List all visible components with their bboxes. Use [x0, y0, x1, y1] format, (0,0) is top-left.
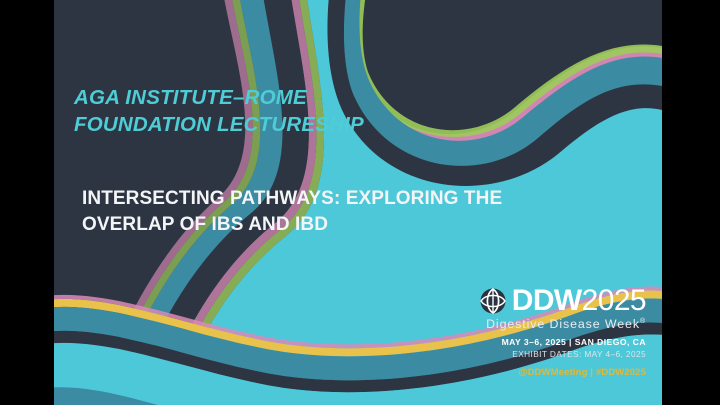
presentation-slide: AGA INSTITUTE–ROME FOUNDATION LECTURESHI… [0, 0, 720, 405]
ddw-logo-row: DDW2025 [474, 286, 646, 316]
lecture-title-line-1: AGA INSTITUTE–ROME [74, 84, 494, 111]
ddw-tagline-text: Digestive Disease Week [486, 317, 640, 331]
ddw-social-handles: @DDWMeeting | #DDW2025 [474, 366, 646, 377]
ddw-wordmark: DDW2025 [512, 286, 646, 316]
letterbox-bar-left [0, 0, 54, 405]
ddw-logo-lockup: DDW2025 Digestive Disease Week® MAY 3–6,… [474, 286, 646, 377]
ddw-meeting-dates: MAY 3–6, 2025 | SAN DIEGO, CA [474, 337, 646, 347]
ddw-wordmark-letters: DDW [512, 284, 582, 317]
slide-canvas: AGA INSTITUTE–ROME FOUNDATION LECTURESHI… [54, 0, 662, 405]
letterbox-bar-right [662, 0, 720, 405]
ddw-overlapping-lens-logo-icon [478, 286, 508, 316]
lecture-series-title: AGA INSTITUTE–ROME FOUNDATION LECTURESHI… [74, 84, 494, 138]
session-title: INTERSECTING PATHWAYS: EXPLORING THE OVE… [82, 186, 642, 238]
ddw-tagline: Digestive Disease Week® [474, 317, 646, 331]
session-title-line-1: INTERSECTING PATHWAYS: EXPLORING THE [82, 186, 642, 212]
session-title-line-2: OVERLAP OF IBS AND IBD [82, 212, 642, 238]
registered-mark-icon: ® [640, 318, 646, 325]
lecture-title-line-2: FOUNDATION LECTURESHIP [74, 111, 494, 138]
ddw-exhibit-dates: EXHIBIT DATES: MAY 4–6, 2025 [474, 349, 646, 359]
ddw-wordmark-year: 2025 [582, 284, 646, 317]
